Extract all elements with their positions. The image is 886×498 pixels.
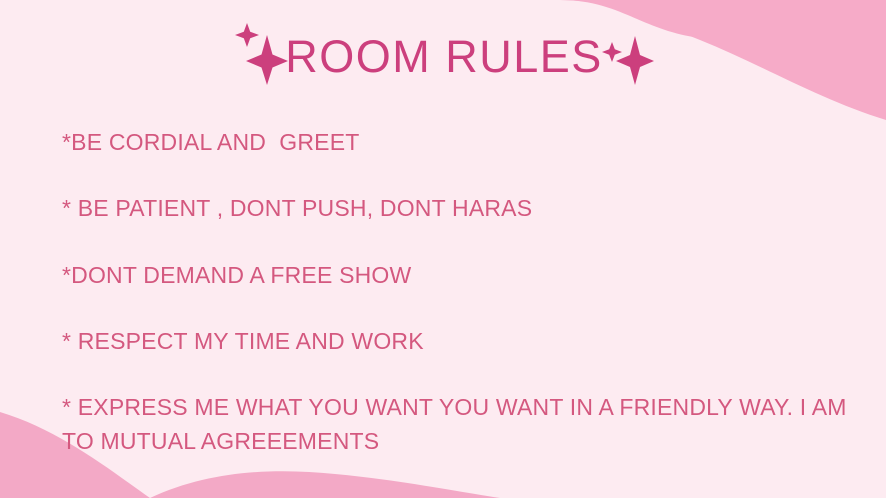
list-item: * BE PATIENT , DONT PUSH, DONT HARAS xyxy=(62,192,852,225)
rules-list: *BE CORDIAL AND GREET * BE PATIENT , DON… xyxy=(62,126,852,458)
bottom-center-wave-icon xyxy=(150,471,500,498)
list-item: * EXPRESS ME WHAT YOU WANT YOU WANT IN A… xyxy=(62,391,852,458)
page-title-text: ROOM RULES xyxy=(285,34,603,79)
room-rules-slide: ROOM RULES *BE CORDIAL AND GREET * BE PA… xyxy=(0,0,886,498)
list-item: *BE CORDIAL AND GREET xyxy=(62,126,852,159)
list-item: * RESPECT MY TIME AND WORK xyxy=(62,325,852,358)
list-item: *DONT DEMAND A FREE SHOW xyxy=(62,259,852,292)
page-title: ROOM RULES xyxy=(0,18,886,94)
sparkle-icon xyxy=(601,28,655,90)
sparkle-icon xyxy=(231,21,289,87)
